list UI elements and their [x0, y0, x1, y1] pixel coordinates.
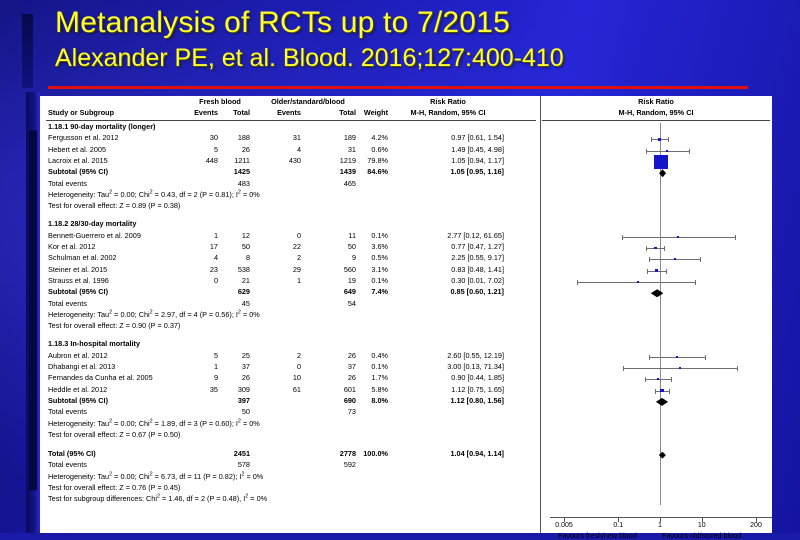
events-fresh: 4 — [190, 254, 218, 261]
study-name: Dhabangi et al. 2013 — [48, 363, 115, 370]
ci-cap-right — [669, 389, 670, 394]
events-older: 4 — [273, 146, 301, 153]
total-older: 31 — [328, 146, 356, 153]
total-fresh: 12 — [222, 232, 250, 239]
total-events-older: 54 — [328, 300, 356, 307]
total-fresh: 25 — [222, 352, 250, 359]
total-older: 37 — [328, 363, 356, 370]
page-title: Metanalysis of RCTs up to 7/2015 — [55, 6, 510, 40]
plot-axis-line — [550, 517, 772, 518]
events-older: 10 — [273, 374, 301, 381]
total-fresh: 397 — [222, 397, 250, 404]
axis-tick-label: 1 — [638, 522, 682, 529]
risk-ratio-value: 0.85 [0.60, 1.21] — [392, 288, 504, 295]
plot-divider — [540, 96, 541, 533]
study-marker — [654, 155, 668, 169]
total-fresh: 50 — [222, 243, 250, 250]
confidence-interval-line — [577, 282, 696, 283]
total-fresh: 1425 — [222, 168, 250, 175]
ci-cap-right — [668, 137, 669, 142]
title-accent-bar — [22, 14, 33, 88]
table-row: Hebert et al. 20055264310.6%1.49 [0.45, … — [40, 146, 540, 157]
risk-ratio-value: 0.83 [0.48, 1.41] — [392, 266, 504, 273]
forest-plot-figure: Fresh bloodOlder/standard/bloodRisk Rati… — [40, 96, 772, 533]
risk-ratio-value: 2.25 [0.55, 9.17] — [392, 254, 504, 261]
events-older: 0 — [273, 232, 301, 239]
total-older: 690 — [328, 397, 356, 404]
weight-value: 79.8% — [360, 157, 388, 164]
study-name: Subtotal (95% CI) — [48, 397, 108, 404]
weight-value: 84.6% — [360, 168, 388, 175]
weight-value: 0.5% — [360, 254, 388, 261]
events-older: 0 — [273, 363, 301, 370]
total-events-label: Total events — [48, 180, 87, 187]
total-fresh: 26 — [222, 374, 250, 381]
table-row: Fergusson et al. 201230188311894.2%0.97 … — [40, 134, 540, 145]
events-older: 31 — [273, 134, 301, 141]
slide-title-block: Metanalysis of RCTs up to 7/2015 Alexand… — [0, 0, 800, 92]
table-row: Total (95% CI)24512778100.0%1.04 [0.94, … — [40, 450, 540, 461]
forest-plot-table: Fresh bloodOlder/standard/bloodRisk Rati… — [40, 96, 540, 533]
study-name: Kor et al. 2012 — [48, 243, 95, 250]
events-fresh: 35 — [190, 386, 218, 393]
axis-tick-label: 0.005 — [542, 522, 586, 529]
study-marker — [658, 138, 661, 141]
risk-ratio-value: 0.77 [0.47, 1.27] — [392, 243, 504, 250]
total-fresh: 8 — [222, 254, 250, 261]
header-rule — [46, 120, 536, 121]
table-row: Schulman et al. 200248290.5%2.25 [0.55, … — [40, 254, 540, 265]
risk-ratio-value: 1.04 [0.94, 1.14] — [392, 450, 504, 457]
total-events-fresh: 50 — [222, 408, 250, 415]
subtotal-diamond — [651, 289, 664, 297]
subtotal-diamond — [656, 398, 668, 406]
events-older: 1 — [273, 277, 301, 284]
column-header-weight: Weight — [360, 109, 388, 116]
total-older: 649 — [328, 288, 356, 295]
events-fresh: 23 — [190, 266, 218, 273]
total-events-older: 465 — [328, 180, 356, 187]
column-header-total-2: Total — [328, 109, 356, 116]
total-fresh: 37 — [222, 363, 250, 370]
column-header-study: Study or Subgroup — [48, 109, 114, 116]
risk-ratio-value: 1.12 [0.75, 1.65] — [392, 386, 504, 393]
subgroup-difference-note: Test for subgroup differences: Chi2 = 1.… — [48, 495, 267, 502]
column-header-total-1: Total — [222, 109, 250, 116]
total-older: 11 — [328, 232, 356, 239]
table-row: Subtotal (95% CI)1425143984.6%1.05 [0.95… — [40, 168, 540, 179]
weight-value: 0.6% — [360, 146, 388, 153]
page-subtitle: Alexander PE, et al. Blood. 2016;127:400… — [55, 44, 564, 73]
study-marker — [679, 367, 681, 369]
weight-value: 0.1% — [360, 232, 388, 239]
total-events-older: 73 — [328, 408, 356, 415]
events-older: 2 — [273, 254, 301, 261]
study-name: Strauss et al. 1996 — [48, 277, 109, 284]
events-fresh: 17 — [190, 243, 218, 250]
total-events-label: Total events — [48, 300, 87, 307]
total-older: 2778 — [328, 450, 356, 457]
events-older: 2 — [273, 352, 301, 359]
ci-cap-left — [649, 257, 650, 262]
overall-effect-note: Test for overall effect: Z = 0.90 (P = 0… — [48, 322, 180, 329]
weight-value: 8.0% — [360, 397, 388, 404]
study-name: Heddle et al. 2012 — [48, 386, 107, 393]
total-events-fresh: 578 — [222, 461, 250, 468]
plot-header-subtitle: M-H, Random, 95% CI — [540, 109, 772, 116]
heterogeneity-note: Heterogeneity: Tau2 = 0.00; Chi2 = 0.43,… — [48, 191, 260, 198]
ci-cap-right — [689, 149, 690, 154]
risk-ratio-value: 0.97 [0.61, 1.54] — [392, 134, 504, 141]
ci-cap-right — [735, 235, 736, 240]
study-marker — [657, 378, 659, 380]
ci-cap-left — [646, 246, 647, 251]
total-fresh: 629 — [222, 288, 250, 295]
total-older: 601 — [328, 386, 356, 393]
column-header-effect: M-H, Random, 95% CI — [392, 109, 504, 116]
table-row: Subtotal (95% CI)3976908.0%1.12 [0.80, 1… — [40, 397, 540, 408]
risk-ratio-value: 0.90 [0.44, 1.85] — [392, 374, 504, 381]
events-fresh: 30 — [190, 134, 218, 141]
study-name: Fergusson et al. 2012 — [48, 134, 119, 141]
left-accent-bar-inner — [29, 130, 37, 490]
ci-cap-left — [647, 269, 648, 274]
weight-value: 5.8% — [360, 386, 388, 393]
total-older: 1219 — [328, 157, 356, 164]
total-older: 9 — [328, 254, 356, 261]
risk-ratio-value: 1.05 [0.94, 1.17] — [392, 157, 504, 164]
heterogeneity-note-total: Heterogeneity: Tau2 = 0.00; Chi2 = 6.73,… — [48, 473, 263, 480]
ci-cap-right — [666, 269, 667, 274]
table-row: Fernandes da Cunha et al. 200592610261.7… — [40, 374, 540, 385]
ci-cap-right — [737, 366, 738, 371]
ci-cap-right — [671, 377, 672, 382]
weight-value: 7.4% — [360, 288, 388, 295]
column-group-risk-ratio: Risk Ratio — [392, 98, 504, 105]
table-row: Subtotal (95% CI)6296497.4%0.85 [0.60, 1… — [40, 288, 540, 299]
weight-value: 100.0% — [360, 450, 388, 457]
table-row: Total events483465 — [40, 180, 540, 191]
table-row: Heddle et al. 201235309616015.8%1.12 [0.… — [40, 386, 540, 397]
study-marker — [660, 389, 664, 393]
events-fresh: 5 — [190, 146, 218, 153]
total-fresh: 188 — [222, 134, 250, 141]
study-name: Subtotal (95% CI) — [48, 288, 108, 295]
column-group-older-blood: Older/standard/blood — [258, 98, 358, 105]
forest-plot-graph: Risk RatioM-H, Random, 95% CI0.0050.1110… — [540, 96, 772, 533]
events-older: 61 — [273, 386, 301, 393]
study-name: Subtotal (95% CI) — [48, 168, 108, 175]
study-marker — [677, 236, 679, 238]
overall-effect-note: Test for overall effect: Z = 0.67 (P = 0… — [48, 431, 180, 438]
events-older: 22 — [273, 243, 301, 250]
study-name: Bennett-Guerrero et al. 2009 — [48, 232, 141, 239]
ci-cap-left — [622, 235, 623, 240]
plot-header-rule — [542, 120, 770, 121]
study-marker — [655, 269, 658, 272]
total-older: 560 — [328, 266, 356, 273]
risk-ratio-value: 2.77 [0.12, 61.65] — [392, 232, 504, 239]
total-events-fresh: 45 — [222, 300, 250, 307]
study-marker — [654, 247, 657, 250]
ci-cap-right — [695, 280, 696, 285]
study-name: Lacroix et al. 2015 — [48, 157, 108, 164]
axis-tick-label: 0.1 — [596, 522, 640, 529]
total-events-label: Total events — [48, 408, 87, 415]
ci-cap-left — [646, 149, 647, 154]
total-older: 26 — [328, 374, 356, 381]
heterogeneity-note: Heterogeneity: Tau2 = 0.00; Chi2 = 2.97,… — [48, 311, 260, 318]
weight-value: 0.1% — [360, 363, 388, 370]
subgroup-heading: 1.18.3 In-hospital mortality — [48, 340, 140, 347]
events-fresh: 1 — [190, 363, 218, 370]
study-name: Fernandes da Cunha et al. 2005 — [48, 374, 153, 381]
axis-tick-label: 200 — [734, 522, 778, 529]
risk-ratio-value: 1.05 [0.95, 1.16] — [392, 168, 504, 175]
events-fresh: 1 — [190, 232, 218, 239]
ci-cap-left — [645, 377, 646, 382]
plot-null-line — [660, 123, 661, 505]
weight-value: 3.6% — [360, 243, 388, 250]
study-name: Aubron et al. 2012 — [48, 352, 108, 359]
risk-ratio-value: 1.12 [0.80, 1.56] — [392, 397, 504, 404]
total-events-fresh: 483 — [222, 180, 250, 187]
total-older: 1439 — [328, 168, 356, 175]
ci-cap-right — [705, 355, 706, 360]
ci-cap-right — [664, 246, 665, 251]
subgroup-heading: 1.18.2 28/30-day mortality — [48, 220, 136, 227]
heterogeneity-note: Heterogeneity: Tau2 = 0.00; Chi2 = 1.89,… — [48, 420, 260, 427]
total-fresh: 309 — [222, 386, 250, 393]
total-older: 50 — [328, 243, 356, 250]
total-events-older: 592 — [328, 461, 356, 468]
column-header-events-1: Events — [190, 109, 218, 116]
risk-ratio-value: 3.00 [0.13, 71.34] — [392, 363, 504, 370]
title-underline — [48, 86, 748, 89]
table-row: Total events4554 — [40, 300, 540, 311]
study-name: Total (95% CI) — [48, 450, 96, 457]
weight-value: 4.2% — [360, 134, 388, 141]
study-marker — [666, 150, 668, 152]
risk-ratio-value: 1.49 [0.45, 4.98] — [392, 146, 504, 153]
axis-tick-label: 10 — [680, 522, 724, 529]
overall-effect-note: Test for overall effect: Z = 0.89 (P = 0… — [48, 202, 180, 209]
total-fresh: 21 — [222, 277, 250, 284]
total-events-label: Total events — [48, 461, 87, 468]
ci-cap-right — [700, 257, 701, 262]
plot-header-title: Risk Ratio — [540, 98, 772, 105]
table-row: Total events578592 — [40, 461, 540, 472]
ci-cap-left — [623, 366, 624, 371]
events-older: 430 — [273, 157, 301, 164]
total-older: 189 — [328, 134, 356, 141]
total-fresh: 538 — [222, 266, 250, 273]
weight-value: 0.4% — [360, 352, 388, 359]
total-older: 19 — [328, 277, 356, 284]
weight-value: 3.1% — [360, 266, 388, 273]
weight-value: 0.1% — [360, 277, 388, 284]
events-fresh: 0 — [190, 277, 218, 284]
study-marker — [674, 258, 676, 260]
total-fresh: 1211 — [222, 157, 250, 164]
table-row: Steiner et al. 201523538295603.1%0.83 [0… — [40, 266, 540, 277]
study-name: Steiner et al. 2015 — [48, 266, 107, 273]
total-older: 26 — [328, 352, 356, 359]
overall-effect-note-total: Test for overall effect: Z = 0.76 (P = 0… — [48, 484, 180, 491]
table-row: Total events5073 — [40, 408, 540, 419]
weight-value: 1.7% — [360, 374, 388, 381]
study-name: Hebert et al. 2005 — [48, 146, 106, 153]
events-fresh: 9 — [190, 374, 218, 381]
total-fresh: 26 — [222, 146, 250, 153]
subgroup-heading: 1.18.1 90-day mortality (longer) — [48, 123, 155, 130]
events-fresh: 448 — [190, 157, 218, 164]
total-fresh: 2451 — [222, 450, 250, 457]
ci-cap-left — [649, 355, 650, 360]
study-name: Schulman et al. 2002 — [48, 254, 117, 261]
study-marker — [637, 281, 639, 283]
column-group-fresh-blood: Fresh blood — [190, 98, 250, 105]
events-fresh: 5 — [190, 352, 218, 359]
ci-cap-left — [651, 137, 652, 142]
risk-ratio-value: 0.30 [0.01, 7.02] — [392, 277, 504, 284]
events-older: 29 — [273, 266, 301, 273]
risk-ratio-value: 2.60 [0.55, 12.19] — [392, 352, 504, 359]
column-header-events-2: Events — [273, 109, 301, 116]
study-marker — [676, 356, 678, 358]
ci-cap-left — [577, 280, 578, 285]
ci-cap-left — [655, 389, 656, 394]
